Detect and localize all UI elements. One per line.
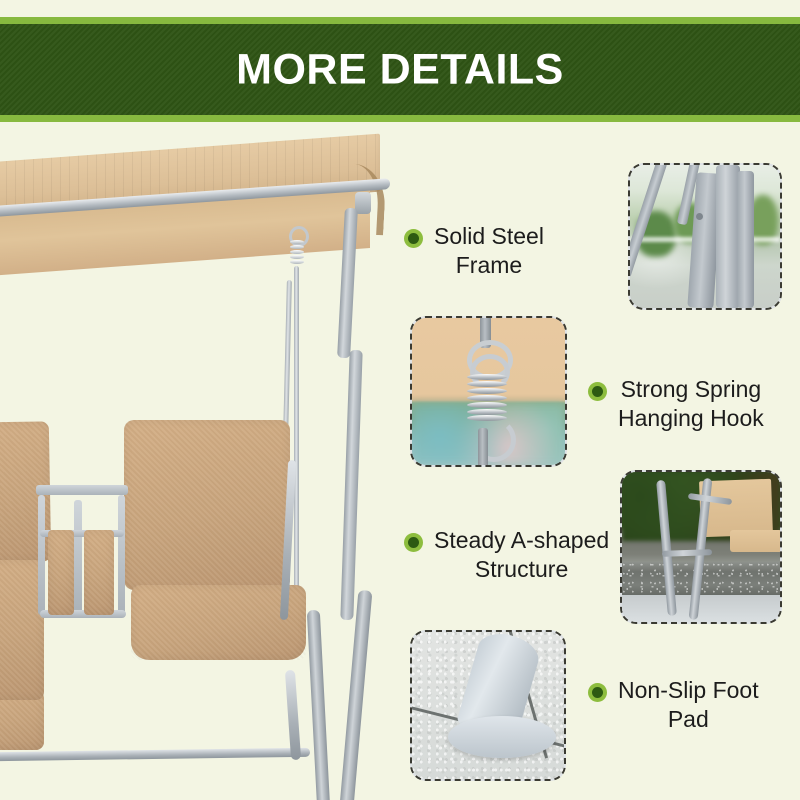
banner-stripe-top <box>0 17 800 24</box>
feature-item-solid-steel-frame: Solid Steel Frame <box>404 222 604 281</box>
bullet-icon <box>404 229 423 248</box>
console-pocket-right <box>84 530 114 615</box>
a-frame-leg-front <box>307 610 330 800</box>
page-title: MORE DETAILS <box>0 48 800 91</box>
right-seat-backrest <box>124 420 290 590</box>
console-leg-mid <box>74 500 82 615</box>
right-seat-cushion <box>131 585 306 660</box>
frame-post-right <box>737 171 754 308</box>
rear-upright-post-lower <box>340 350 362 620</box>
photo-background <box>412 632 564 779</box>
feature-label: Steady A-shaped Structure <box>434 526 609 585</box>
hanger-rod-right <box>294 266 299 596</box>
bullet-icon <box>588 382 607 401</box>
console-pocket-left <box>48 530 74 615</box>
a-frame-cross-brace <box>662 549 712 557</box>
spring-coil <box>290 240 304 266</box>
header-banner: MORE DETAILS <box>0 17 800 122</box>
foot-pad-disc <box>448 716 556 758</box>
feature-item-steady-a-shaped-structure: Steady A-shaped Structure <box>404 526 619 585</box>
console-leg-left <box>38 495 45 615</box>
spring-hanging-hook-photo <box>410 316 567 467</box>
seat-attachment-rod <box>478 428 488 467</box>
console-table-top <box>36 485 128 495</box>
photo-background <box>412 318 565 465</box>
steel-frame-joint-photo <box>628 163 782 310</box>
feature-label: Solid Steel Frame <box>434 222 544 281</box>
seat-front-rail <box>0 748 310 761</box>
bullet-icon <box>588 683 607 702</box>
a-frame-leg-rear <box>338 590 373 800</box>
a-shaped-frame-photo <box>620 470 782 624</box>
photo-background <box>630 165 780 308</box>
patio-ground <box>622 595 780 622</box>
seat-side-rail <box>285 670 301 760</box>
bullet-icon <box>404 533 423 552</box>
feature-item-non-slip-foot-pad: Non-Slip Foot Pad <box>588 676 793 735</box>
photo-background <box>622 472 780 622</box>
feature-label: Strong Spring Hanging Hook <box>618 375 764 434</box>
non-slip-foot-pad-photo <box>410 630 566 781</box>
feature-item-strong-spring-hanging-hook: Strong Spring Hanging Hook <box>588 375 793 434</box>
product-hero-image <box>0 130 400 800</box>
banner-stripe-bottom <box>0 115 800 122</box>
swing-seat-edge <box>730 530 782 552</box>
more-details-product-page: MORE DETAILS <box>0 0 800 800</box>
feature-label: Non-Slip Foot Pad <box>618 676 759 735</box>
bolt-icon <box>696 213 703 220</box>
spring-coil <box>467 374 507 422</box>
console-leg-right <box>118 495 125 615</box>
